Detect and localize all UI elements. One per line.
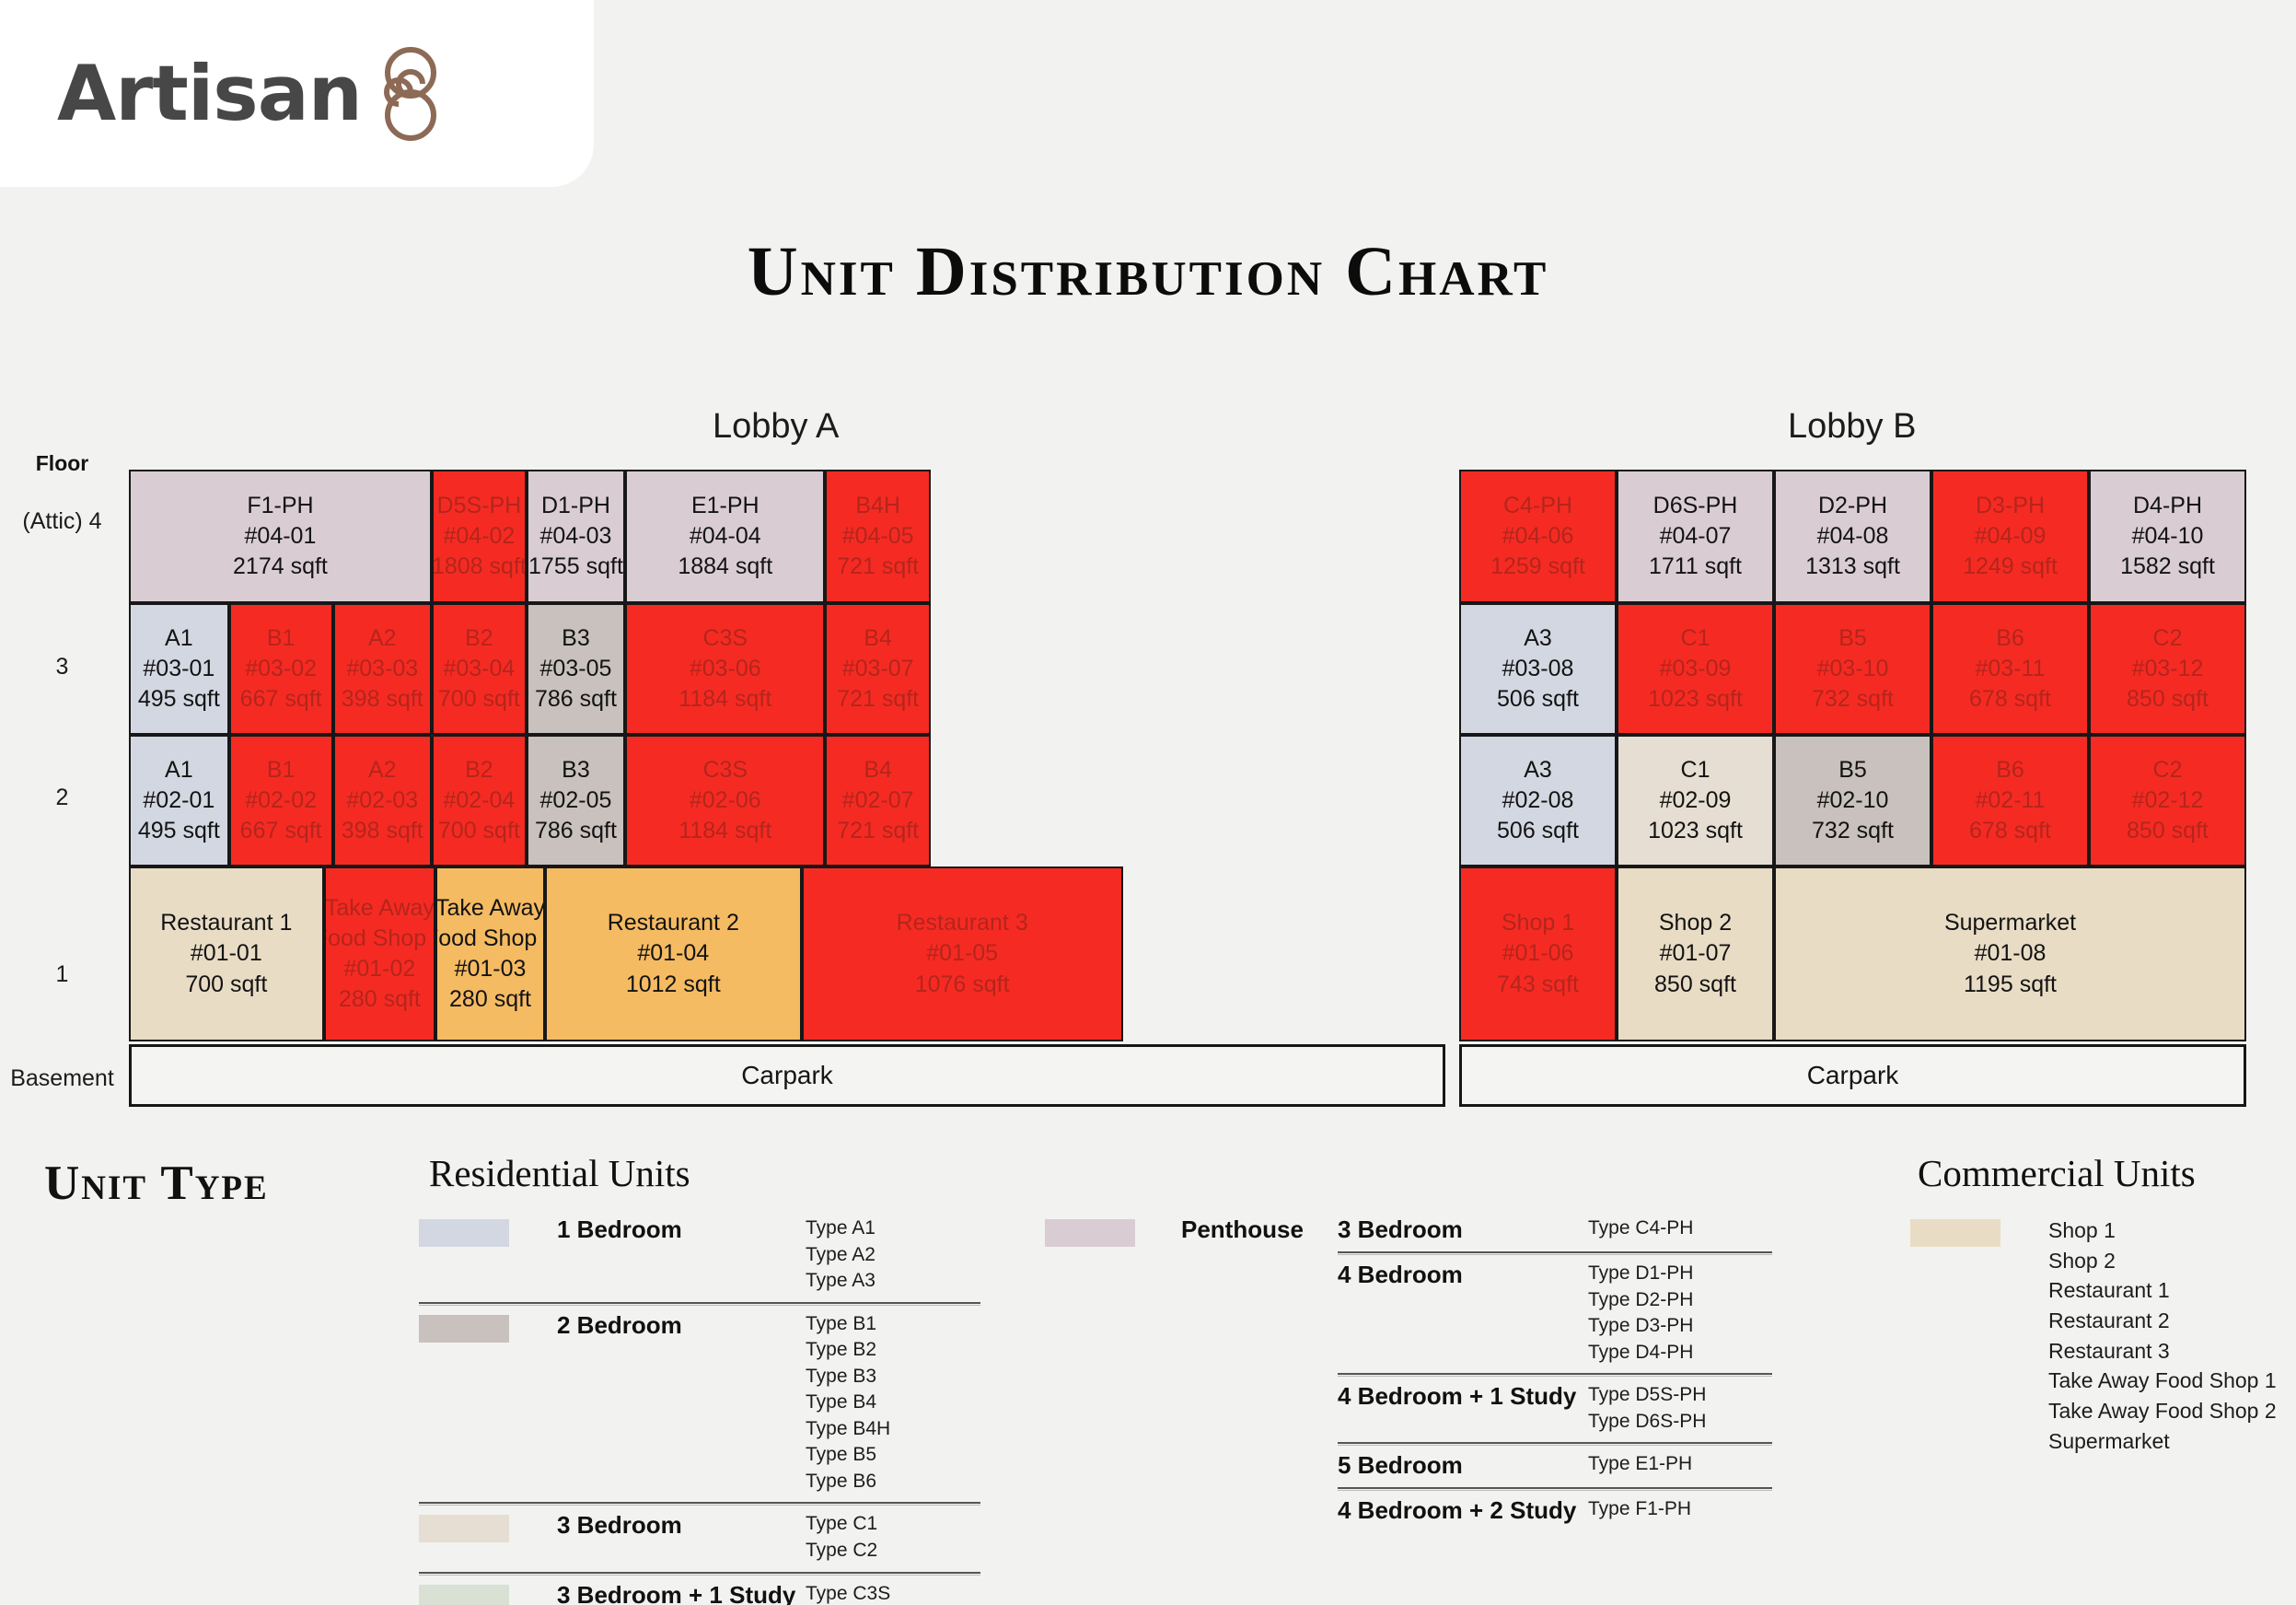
unit-number: #01-02 — [343, 954, 415, 984]
brand-logo-card: Artisan — [0, 0, 594, 187]
unit-type-label: A3 — [1524, 755, 1552, 785]
unit-cell[interactable]: B1#02-02667 sqft — [229, 735, 333, 866]
unit-type-label: B4 — [864, 755, 892, 785]
unit-area: 850 sqft — [2127, 816, 2209, 846]
unit-cell[interactable]: B6#03-11678 sqft — [1931, 603, 2089, 735]
unit-area: 398 sqft — [342, 816, 423, 846]
lobby-b-label: Lobby B — [1788, 407, 1916, 447]
unit-type-label: D1-PH — [541, 491, 610, 521]
unit-type-label: D4-PH — [2133, 491, 2202, 521]
unit-cell[interactable]: B3#03-05786 sqft — [527, 603, 625, 735]
unit-cell[interactable]: B3#02-05786 sqft — [527, 735, 625, 866]
unit-type-label: F1-PH — [247, 491, 313, 521]
legend-color-swatch — [1910, 1219, 2000, 1247]
legend-label: 3 Bedroom + 1 Study — [557, 1581, 806, 1605]
unit-number: #03-06 — [690, 654, 761, 684]
unit-type-label: Shop 1 — [1502, 908, 1574, 938]
unit-number: #02-10 — [1817, 785, 1889, 816]
unit-area: 1184 sqft — [678, 684, 771, 715]
unit-number: #04-01 — [245, 521, 317, 552]
unit-cell[interactable]: B4#02-07721 sqft — [825, 735, 930, 866]
unit-cell[interactable]: Restaurant 3#01-051076 sqft — [802, 866, 1123, 1041]
unit-number: #01-05 — [926, 938, 998, 969]
unit-area: 1184 sqft — [678, 816, 771, 846]
legend-label: 4 Bedroom — [1338, 1261, 1588, 1289]
unit-number: #02-07 — [842, 785, 914, 816]
floor-tick-basement: Basement — [0, 1064, 124, 1093]
unit-number: #01-08 — [1975, 938, 2047, 969]
legend-color-swatch — [419, 1219, 509, 1247]
unit-type-label: C2 — [2153, 755, 2183, 785]
unit-cell[interactable]: B5#03-10732 sqft — [1774, 603, 1931, 735]
unit-area: 1259 sqft — [1490, 552, 1585, 582]
commercial-item: Supermarket — [2048, 1426, 2277, 1457]
unit-area: 1195 sqft — [1964, 970, 2057, 1000]
legend-type-item: Type B3 — [806, 1364, 980, 1390]
unit-number: #01-03 — [455, 954, 527, 984]
unit-type-label: B1 — [267, 755, 296, 785]
unit-number: #01-07 — [1660, 938, 1732, 969]
unit-cell[interactable]: C2#03-12850 sqft — [2089, 603, 2246, 735]
penthouse-type-table: 3 BedroomType C4-PH4 BedroomType D1-PHTy… — [1338, 1215, 1772, 1525]
legend-type-item: Type A1 — [806, 1215, 980, 1242]
unit-type-label: B6 — [1996, 623, 2024, 654]
unit-number: #03-03 — [346, 654, 418, 684]
unit-type-label: Restaurant 3 — [897, 908, 1028, 938]
unit-area: 743 sqft — [1497, 970, 1579, 1000]
commercial-item: Restaurant 2 — [2048, 1306, 2277, 1336]
legend-color-swatch — [1045, 1219, 1135, 1247]
unit-cell[interactable]: B5#02-10732 sqft — [1774, 735, 1931, 866]
unit-number: #02-03 — [346, 785, 418, 816]
unit-area: 850 sqft — [1654, 970, 1736, 1000]
unit-cell[interactable]: Supermarket#01-081195 sqft — [1774, 866, 2246, 1041]
unit-area: 280 sqft — [339, 984, 421, 1015]
unit-area: 495 sqft — [138, 816, 220, 846]
legend-type-item: Type D3-PH — [1588, 1313, 1772, 1340]
unit-type-label: E1-PH — [691, 491, 760, 521]
unit-type-label: B1 — [267, 623, 296, 654]
unit-type-label: Shop 2 — [1659, 908, 1732, 938]
commercial-item: Restaurant 3 — [2048, 1336, 2277, 1367]
unit-number: #02-09 — [1660, 785, 1732, 816]
unit-type-label: B4H — [855, 491, 900, 521]
unit-area: 700 sqft — [438, 816, 520, 846]
unit-type-label: C3S — [702, 623, 748, 654]
carpark-cell[interactable]: Carpark — [129, 1044, 1445, 1107]
lobby-b-grid: C4-PH#04-061259 sqftD6S-PH#04-071711 sqf… — [1459, 470, 2246, 1107]
unit-number: #03-07 — [842, 654, 914, 684]
commercial-item: Take Away Food Shop 1 — [2048, 1366, 2277, 1396]
legend-label: 4 Bedroom + 2 Study — [1338, 1496, 1588, 1525]
unit-cell[interactable]: C3S#02-061184 sqft — [625, 735, 825, 866]
unit-cell[interactable]: Shop 1#01-06743 sqft — [1459, 866, 1617, 1041]
legend-label: 2 Bedroom — [557, 1311, 806, 1340]
unit-number: #04-04 — [690, 521, 761, 552]
floor-row-3: A1#03-01495 sqftB1#03-02667 sqftA2#03-03… — [129, 603, 1445, 735]
unit-cell[interactable]: E1-PH#04-041884 sqft — [625, 470, 825, 603]
unit-type-label: B5 — [1838, 623, 1867, 654]
unit-area: 721 sqft — [837, 684, 919, 715]
unit-number: #02-08 — [1502, 785, 1574, 816]
unit-number: #04-03 — [540, 521, 612, 552]
unit-cell[interactable]: A2#02-03398 sqft — [333, 735, 432, 866]
legend-type-item: Type D4-PH — [1588, 1340, 1772, 1367]
legend-row: 4 BedroomType D1-PHType D2-PHType D3-PHT… — [1338, 1261, 1772, 1366]
floor-tick-4: (Attic) 4 — [0, 507, 124, 536]
floor-row-1: Restaurant 1#01-01700 sqftTake AwayFood … — [129, 866, 1445, 1041]
carpark-cell[interactable]: Carpark — [1459, 1044, 2246, 1107]
unit-cell[interactable]: Restaurant 1#01-01700 sqft — [129, 866, 324, 1041]
unit-number: #04-09 — [1975, 521, 2047, 552]
unit-number: #04-10 — [2132, 521, 2204, 552]
unit-type-label: C1 — [1681, 623, 1710, 654]
unit-distribution-page: Artisan Unit Distribution Chart Lobby A … — [0, 0, 2296, 1605]
legend-type-list: Type C3S — [806, 1581, 980, 1605]
legend-type-item: Type D5S-PH — [1588, 1382, 1772, 1409]
legend-row: 4 Bedroom + 1 StudyType D5S-PHType D6S-P… — [1338, 1382, 1772, 1435]
legend-divider — [1338, 1373, 1772, 1377]
unit-number: #03-09 — [1660, 654, 1732, 684]
legend-type-item: Type B5 — [806, 1442, 980, 1469]
unit-area: 786 sqft — [535, 684, 617, 715]
unit-cell[interactable]: A1#03-01495 sqft — [129, 603, 229, 735]
unit-cell[interactable]: C1#03-091023 sqft — [1617, 603, 1774, 735]
unit-area: 2174 sqft — [233, 552, 328, 582]
unit-area: 280 sqft — [449, 984, 531, 1015]
unit-number: #03-08 — [1502, 654, 1574, 684]
legend-divider — [419, 1502, 980, 1506]
brand-name: Artisan — [57, 49, 362, 138]
unit-type-label: Restaurant 1 — [160, 908, 292, 938]
basement-row: Carpark — [1459, 1044, 2246, 1107]
legend-type-item: Type D6S-PH — [1588, 1409, 1772, 1436]
unit-type-label-cont: Food Shop 2 — [435, 924, 545, 954]
legend-row: 4 Bedroom + 2 StudyType F1-PH — [1338, 1496, 1772, 1525]
legend-label: 1 Bedroom — [557, 1215, 806, 1244]
unit-cell[interactable]: D2-PH#04-081313 sqft — [1774, 470, 1931, 603]
unit-type-label: B3 — [562, 623, 590, 654]
unit-number: #04-06 — [1502, 521, 1574, 552]
legend-type-item: Type C2 — [806, 1538, 980, 1564]
legend-type-list: Type E1-PH — [1588, 1451, 1772, 1478]
legend-label: 5 Bedroom — [1338, 1451, 1588, 1480]
unit-type-label: A2 — [368, 755, 397, 785]
legend-type-list: Type C1Type C2 — [806, 1511, 980, 1564]
legend-label: 3 Bedroom — [1338, 1215, 1588, 1244]
unit-number: #01-01 — [191, 938, 262, 969]
unit-cell[interactable]: C2#02-12850 sqft — [2089, 735, 2246, 866]
floor-row-4: C4-PH#04-061259 sqftD6S-PH#04-071711 sqf… — [1459, 470, 2246, 603]
unit-cell[interactable]: Restaurant 2#01-041012 sqft — [545, 866, 802, 1041]
unit-area: 700 sqft — [185, 970, 267, 1000]
commercial-item: Take Away Food Shop 2 — [2048, 1396, 2277, 1426]
unit-area: 1808 sqft — [432, 552, 527, 582]
unit-type-label: A3 — [1524, 623, 1552, 654]
unit-area: 506 sqft — [1497, 684, 1579, 715]
legend-type-item: Type C1 — [806, 1511, 980, 1538]
unit-type-label: C1 — [1681, 755, 1710, 785]
penthouse-label: Penthouse — [1181, 1215, 1338, 1244]
unit-area: 678 sqft — [1969, 684, 2051, 715]
legend-type-list: Type D5S-PHType D6S-PH — [1588, 1382, 1772, 1435]
unit-cell[interactable]: D1-PH#04-031755 sqft — [527, 470, 625, 603]
brand-logo: Artisan — [57, 44, 448, 144]
unit-number: #02-11 — [1976, 785, 2046, 816]
legend-color-swatch — [419, 1515, 509, 1542]
unit-number: #02-05 — [540, 785, 612, 816]
unit-number: #03-02 — [245, 654, 317, 684]
unit-type-label: C4-PH — [1503, 491, 1572, 521]
unit-number: #03-11 — [1976, 654, 2046, 684]
unit-number: #02-06 — [690, 785, 761, 816]
legend-type-item: Type E1-PH — [1588, 1451, 1772, 1478]
unit-area: 1023 sqft — [1648, 684, 1743, 715]
unit-number: #01-04 — [637, 938, 709, 969]
unit-number: #03-01 — [143, 654, 215, 684]
unit-number: #03-10 — [1817, 654, 1889, 684]
lobby-a-grid: F1-PH#04-012174 sqftD5S-PH#04-021808 sqf… — [129, 470, 1445, 1107]
legend-color-swatch — [419, 1315, 509, 1343]
unit-cell[interactable]: A3#02-08506 sqft — [1459, 735, 1617, 866]
unit-type-label: C3S — [702, 755, 748, 785]
unit-area: 721 sqft — [837, 816, 919, 846]
floor-row-2: A3#02-08506 sqftC1#02-091023 sqftB5#02-1… — [1459, 735, 2246, 866]
unit-type-label: B2 — [465, 755, 493, 785]
lobby-a-label: Lobby A — [713, 407, 839, 447]
residential-units-heading: Residential Units — [429, 1151, 690, 1195]
legend-divider — [419, 1302, 980, 1306]
legend-type-list: Type F1-PH — [1588, 1496, 1772, 1523]
unit-number: #03-12 — [2132, 654, 2204, 684]
unit-cell[interactable]: C1#02-091023 sqft — [1617, 735, 1774, 866]
unit-area: 786 sqft — [535, 816, 617, 846]
unit-cell[interactable]: F1-PH#04-012174 sqft — [129, 470, 432, 603]
commercial-units-heading: Commercial Units — [1918, 1151, 2196, 1195]
unit-area: 1313 sqft — [1805, 552, 1900, 582]
unit-type-heading: Unit Type — [44, 1156, 269, 1211]
unit-type-label: B4 — [864, 623, 892, 654]
unit-area: 398 sqft — [342, 684, 423, 715]
unit-cell[interactable]: B2#02-04700 sqft — [432, 735, 527, 866]
unit-type-label: B5 — [1838, 755, 1867, 785]
floor-tick-3: 3 — [0, 653, 124, 681]
unit-type-label: B3 — [562, 755, 590, 785]
legend-type-item: Type D1-PH — [1588, 1261, 1772, 1287]
unit-type-label-cont: Food Shop 1 — [324, 924, 436, 954]
legend-divider — [1338, 1251, 1772, 1255]
unit-cell[interactable]: B6#02-11678 sqft — [1931, 735, 2089, 866]
unit-area: 850 sqft — [2127, 684, 2209, 715]
unit-cell[interactable]: D6S-PH#04-071711 sqft — [1617, 470, 1774, 603]
floor-row-3: A3#03-08506 sqftC1#03-091023 sqftB5#03-1… — [1459, 603, 2246, 735]
unit-cell[interactable]: C3S#03-061184 sqft — [625, 603, 825, 735]
legend-row: 3 BedroomType C4-PH — [1338, 1215, 1772, 1244]
unit-type-label: Take Away — [435, 893, 545, 924]
unit-area: 1884 sqft — [678, 552, 772, 582]
unit-number: #01-06 — [1502, 938, 1574, 969]
unit-type-label: D2-PH — [1818, 491, 1887, 521]
legend-type-list: Type C4-PH — [1588, 1215, 1772, 1242]
legend-color-swatch — [419, 1585, 509, 1605]
unit-type-label: Supermarket — [1944, 908, 2076, 938]
unit-cell[interactable]: B4H#04-05721 sqft — [825, 470, 930, 603]
floor-tick-2: 2 — [0, 784, 124, 812]
unit-type-label: B6 — [1996, 755, 2024, 785]
unit-area: 700 sqft — [438, 684, 520, 715]
floor-number: 4 — [89, 508, 102, 534]
residential-legend: 1 BedroomType A1Type A2Type A32 BedroomT… — [419, 1215, 980, 1605]
commercial-legend: Shop 1Shop 2Restaurant 1Restaurant 2Rest… — [1910, 1215, 2279, 1456]
page-title: Unit Distribution Chart — [0, 232, 2296, 312]
unit-area: 678 sqft — [1969, 816, 2051, 846]
commercial-item-list: Shop 1Shop 2Restaurant 1Restaurant 2Rest… — [2048, 1215, 2277, 1456]
legend-row: 1 BedroomType A1Type A2Type A3 — [419, 1215, 980, 1295]
legend-row: 2 BedroomType B1Type B2Type B3Type B4Typ… — [419, 1311, 980, 1495]
legend-type-item: Type B2 — [806, 1337, 980, 1364]
unit-type-label: A1 — [165, 623, 193, 654]
unit-type-label: D6S-PH — [1653, 491, 1738, 521]
legend-row: 3 BedroomType C1Type C2 — [419, 1511, 980, 1564]
basement-row: Carpark — [129, 1044, 1445, 1107]
legend-type-item: Type C4-PH — [1588, 1215, 1772, 1242]
unit-cell[interactable]: A2#03-03398 sqft — [333, 603, 432, 735]
legend-row: Shop 1Shop 2Restaurant 1Restaurant 2Rest… — [1910, 1215, 2279, 1456]
unit-area: 1755 sqft — [528, 552, 623, 582]
unit-number: #04-05 — [842, 521, 914, 552]
unit-area: 732 sqft — [1812, 816, 1894, 846]
unit-cell[interactable]: B2#03-04700 sqft — [432, 603, 527, 735]
legend-row: 5 BedroomType E1-PH — [1338, 1451, 1772, 1480]
unit-area: 667 sqft — [240, 816, 322, 846]
unit-cell[interactable]: A1#02-01495 sqft — [129, 735, 229, 866]
unit-area: 506 sqft — [1497, 816, 1579, 846]
unit-area: 1582 sqft — [2120, 552, 2215, 582]
floor-row-4: F1-PH#04-012174 sqftD5S-PH#04-021808 sqf… — [129, 470, 1445, 603]
unit-type-label: D3-PH — [1976, 491, 2045, 521]
unit-number: #02-04 — [443, 785, 515, 816]
floor-row-2: A1#02-01495 sqftB1#02-02667 sqftA2#02-03… — [129, 735, 1445, 866]
unit-cell[interactable]: B4#03-07721 sqft — [825, 603, 930, 735]
legend-type-item: Type C3S — [806, 1581, 980, 1605]
legend-type-item: Type F1-PH — [1588, 1496, 1772, 1523]
legend-divider — [1338, 1487, 1772, 1491]
legend-type-item: Type D2-PH — [1588, 1287, 1772, 1314]
unit-type-label: C2 — [2153, 623, 2183, 654]
unit-area: 1249 sqft — [1963, 552, 2058, 582]
floor-axis-header: Floor — [0, 451, 124, 476]
unit-area: 721 sqft — [837, 552, 919, 582]
unit-type-label: Take Away — [325, 893, 435, 924]
unit-area: 1023 sqft — [1648, 816, 1743, 846]
unit-type-label: Restaurant 2 — [608, 908, 739, 938]
unit-area: 495 sqft — [138, 684, 220, 715]
legend-divider — [1338, 1442, 1772, 1446]
penthouse-legend-head: Penthouse3 BedroomType C4-PH4 BedroomTyp… — [1045, 1215, 1772, 1525]
legend-type-list: Type A1Type A2Type A3 — [806, 1215, 980, 1295]
floor-tick-1: 1 — [0, 960, 124, 989]
penthouse-legend: Penthouse3 BedroomType C4-PH4 BedroomTyp… — [1045, 1215, 1772, 1525]
floor-row-1: Shop 1#01-06743 sqftShop 2#01-07850 sqft… — [1459, 866, 2246, 1041]
unit-cell[interactable]: B1#03-02667 sqft — [229, 603, 333, 735]
legend-type-item: Type B1 — [806, 1311, 980, 1338]
legend-divider — [419, 1572, 980, 1576]
unit-number: #02-12 — [2132, 785, 2204, 816]
unit-type-label: D5S-PH — [437, 491, 522, 521]
legend-type-item: Type B4H — [806, 1416, 980, 1443]
unit-number: #02-02 — [245, 785, 317, 816]
unit-cell[interactable]: D4-PH#04-101582 sqft — [2089, 470, 2246, 603]
legend-label: 3 Bedroom — [557, 1511, 806, 1540]
commercial-item: Shop 1 — [2048, 1215, 2277, 1246]
unit-area: 1076 sqft — [915, 970, 1010, 1000]
unit-type-label: A2 — [368, 623, 397, 654]
unit-number: #03-04 — [443, 654, 515, 684]
legend-type-list: Type B1Type B2Type B3Type B4Type B4HType… — [806, 1311, 980, 1495]
unit-cell[interactable]: Shop 2#01-07850 sqft — [1617, 866, 1774, 1041]
unit-number: #04-02 — [443, 521, 515, 552]
commercial-item: Restaurant 1 — [2048, 1275, 2277, 1306]
legend-label: 4 Bedroom + 1 Study — [1338, 1382, 1588, 1411]
unit-cell[interactable]: Take AwayFood Shop 1#01-02280 sqft — [324, 866, 436, 1041]
commercial-item: Shop 2 — [2048, 1246, 2277, 1276]
legend-type-item: Type B4 — [806, 1390, 980, 1416]
unit-cell[interactable]: D3-PH#04-091249 sqft — [1931, 470, 2089, 603]
unit-number: #03-05 — [540, 654, 612, 684]
unit-type-label: A1 — [165, 755, 193, 785]
attic-note: (Attic) — [22, 508, 82, 534]
unit-cell[interactable]: D5S-PH#04-021808 sqft — [432, 470, 527, 603]
unit-number: #02-01 — [143, 785, 215, 816]
unit-cell[interactable]: A3#03-08506 sqft — [1459, 603, 1617, 735]
unit-area: 732 sqft — [1812, 684, 1894, 715]
unit-number: #04-08 — [1817, 521, 1889, 552]
unit-cell[interactable]: C4-PH#04-061259 sqft — [1459, 470, 1617, 603]
legend-type-item: Type B6 — [806, 1469, 980, 1495]
legend-row: 3 Bedroom + 1 StudyType C3S — [419, 1581, 980, 1605]
infinity-8-mark-icon — [373, 44, 448, 144]
unit-cell[interactable]: Take AwayFood Shop 2#01-03280 sqft — [435, 866, 545, 1041]
unit-area: 1012 sqft — [626, 970, 721, 1000]
unit-area: 1711 sqft — [1649, 552, 1742, 582]
unit-area: 667 sqft — [240, 684, 322, 715]
legend-type-list: Type D1-PHType D2-PHType D3-PHType D4-PH — [1588, 1261, 1772, 1366]
unit-number: #04-07 — [1660, 521, 1732, 552]
unit-type-label: B2 — [465, 623, 493, 654]
legend-type-item: Type A3 — [806, 1268, 980, 1295]
legend-type-item: Type A2 — [806, 1242, 980, 1269]
